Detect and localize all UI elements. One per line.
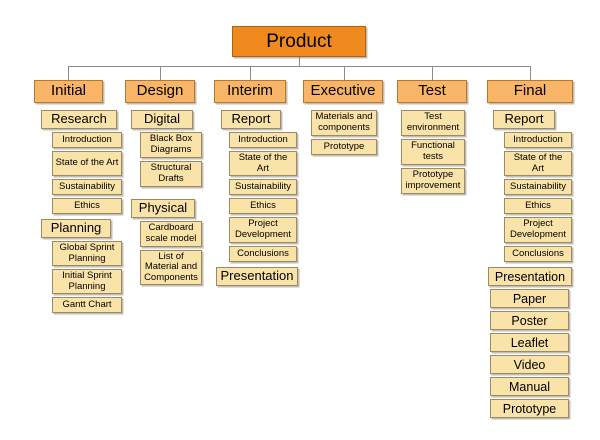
node-phase-initial[interactable]: Initial	[34, 80, 103, 103]
node-group-final-leaflet[interactable]: Leaflet	[490, 333, 569, 352]
node-leaf-final-report-sustainability[interactable]: Sustainability	[504, 179, 572, 195]
node-leaf-design-physical-list-of-material-and-components[interactable]: List of Material and Components	[140, 250, 202, 285]
node-leaf-design-physical-cardboard-scale-model[interactable]: Cardboard scale model	[140, 221, 202, 247]
node-group-final-video[interactable]: Video	[490, 355, 569, 374]
node-group-final-paper[interactable]: Paper	[490, 289, 569, 308]
node-leaf-test-test-environment[interactable]: Test environment	[401, 110, 465, 136]
node-leaf-final-report-ethics[interactable]: Ethics	[504, 198, 572, 214]
node-phase-final[interactable]: Final	[487, 80, 573, 103]
node-leaf-interim-report-state-of-the-art[interactable]: State of the Art	[229, 151, 297, 176]
node-leaf-initial-planning-gantt-chart[interactable]: Gantt Chart	[52, 297, 122, 313]
node-leaf-design-digital-black-box-diagrams[interactable]: Black Box Diagrams	[140, 132, 202, 158]
node-leaf-final-report-project-development[interactable]: Project Development	[504, 217, 572, 243]
node-leaf-interim-report-introduction[interactable]: Introduction	[229, 132, 297, 148]
node-leaf-final-report-conclusions[interactable]: Conclusions	[504, 246, 572, 262]
node-leaf-initial-planning-initial-sprint-planning[interactable]: Initial Sprint Planning	[52, 269, 122, 294]
node-leaf-initial-planning-global-sprint-planning[interactable]: Global Sprint Planning	[52, 241, 122, 266]
connector-drop-design	[160, 66, 161, 80]
node-leaf-test-functional-tests[interactable]: Functional tests	[401, 139, 465, 165]
node-group-final-presentation[interactable]: Presentation	[488, 267, 572, 286]
node-leaf-executive-prototype[interactable]: Prototype	[311, 139, 377, 155]
connector-drop-test	[432, 66, 433, 80]
connector-drop-interim	[250, 66, 251, 80]
node-product-root[interactable]: Product	[232, 26, 366, 57]
node-leaf-interim-report-project-development[interactable]: Project Development	[229, 217, 297, 243]
node-phase-design[interactable]: Design	[125, 80, 195, 103]
node-group-final-manual[interactable]: Manual	[490, 377, 569, 396]
node-leaf-interim-report-ethics[interactable]: Ethics	[229, 198, 297, 214]
node-group-design-physical[interactable]: Physical	[131, 199, 195, 218]
node-leaf-initial-research-introduction[interactable]: Introduction	[52, 132, 122, 148]
node-leaf-interim-report-conclusions[interactable]: Conclusions	[229, 246, 297, 262]
node-leaf-design-digital-structural-drafts[interactable]: Structural Drafts	[140, 161, 202, 187]
node-leaf-executive-materials-and-components[interactable]: Materials and components	[311, 110, 377, 136]
connector-root-stub	[299, 57, 300, 67]
connector-drop-initial	[68, 66, 69, 80]
node-leaf-initial-research-state-of-the-art[interactable]: State of the Art	[52, 151, 122, 176]
node-group-initial-research[interactable]: Research	[41, 110, 117, 129]
node-leaf-final-report-introduction[interactable]: Introduction	[504, 132, 572, 148]
node-phase-executive[interactable]: Executive	[303, 80, 383, 103]
node-group-initial-planning[interactable]: Planning	[41, 219, 111, 238]
node-leaf-interim-report-sustainability[interactable]: Sustainability	[229, 179, 297, 195]
wbs-diagram-canvas: Product Initial Design Interim Executive…	[0, 0, 600, 440]
node-leaf-initial-research-ethics[interactable]: Ethics	[52, 198, 122, 214]
node-leaf-final-report-state-of-the-art[interactable]: State of the Art	[504, 151, 572, 176]
node-leaf-test-prototype-improvement[interactable]: Prototype improvement	[401, 168, 465, 194]
node-group-final-prototype[interactable]: Prototype	[490, 399, 569, 418]
node-group-design-digital[interactable]: Digital	[131, 110, 193, 129]
node-group-final-report[interactable]: Report	[493, 110, 555, 129]
node-phase-test[interactable]: Test	[397, 80, 467, 103]
node-phase-interim[interactable]: Interim	[214, 80, 286, 103]
node-group-final-poster[interactable]: Poster	[490, 311, 569, 330]
node-group-interim-report[interactable]: Report	[221, 110, 281, 129]
connector-drop-executive	[344, 66, 345, 80]
node-leaf-initial-research-sustainability[interactable]: Sustainability	[52, 179, 122, 195]
connector-drop-final	[530, 66, 531, 80]
node-group-interim-presentation[interactable]: Presentation	[216, 267, 298, 286]
